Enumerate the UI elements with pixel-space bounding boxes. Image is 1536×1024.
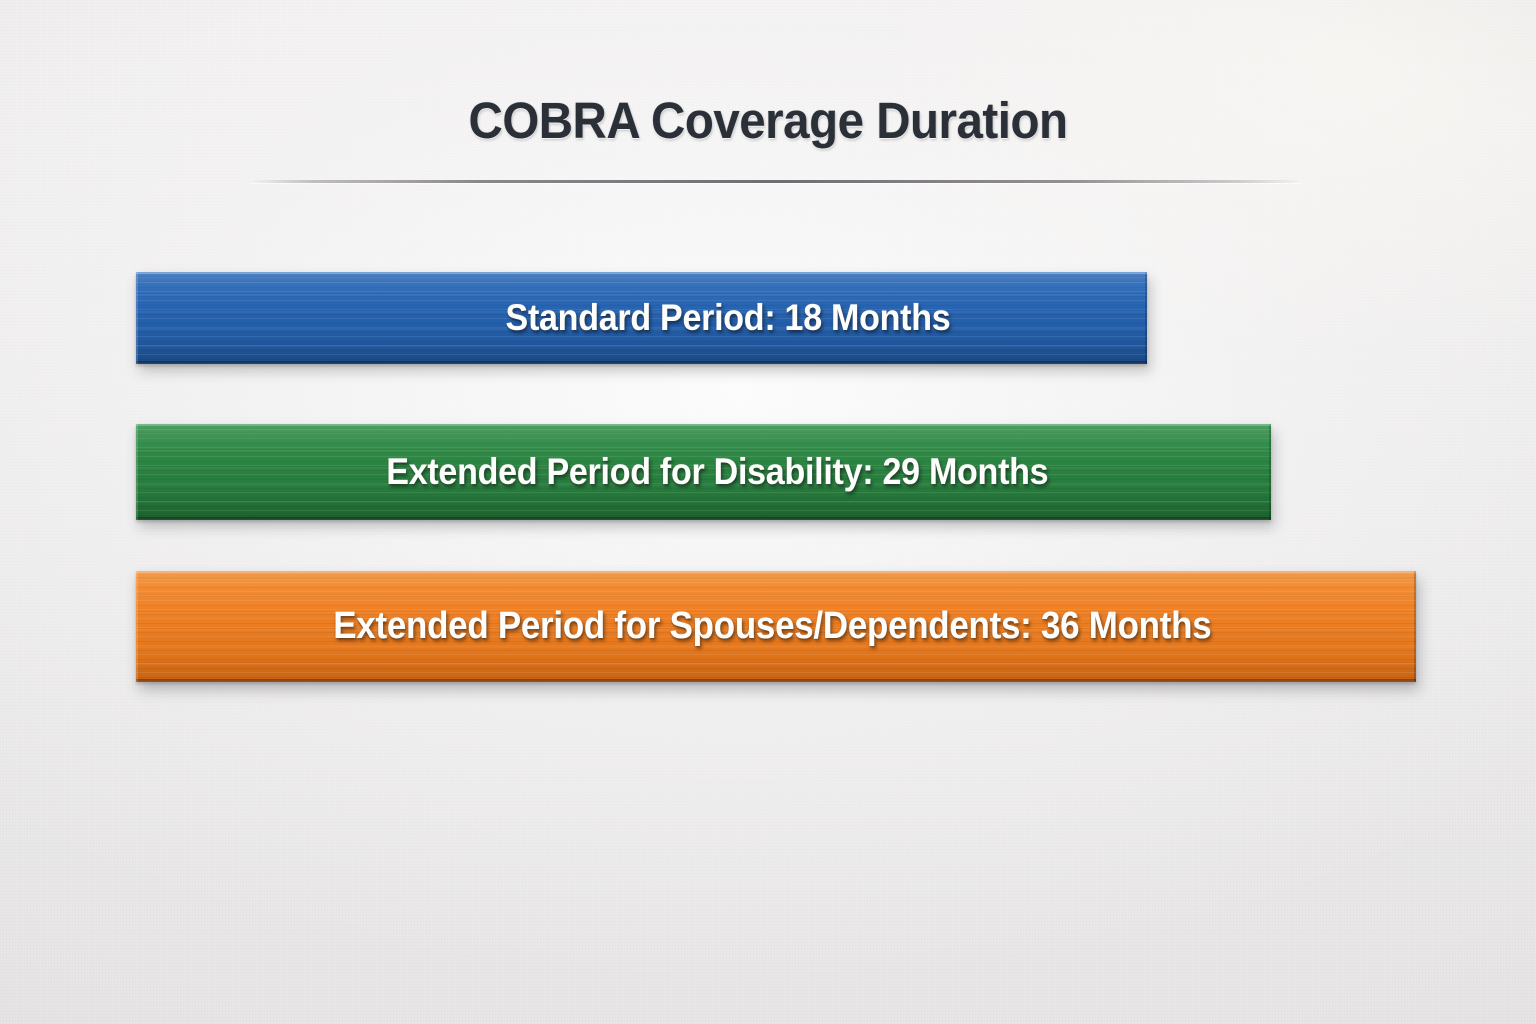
bar-chart: Standard Period: 18 Months Extended Peri… — [0, 0, 1536, 1024]
bar-extended-disability[interactable]: Extended Period for Disability: 29 Month… — [136, 424, 1271, 520]
bar-extended-spouses-dependents[interactable]: Extended Period for Spouses/Dependents: … — [136, 571, 1416, 682]
bar-standard-period-label: Standard Period: 18 Months — [176, 297, 1106, 339]
bar-standard-period[interactable]: Standard Period: 18 Months — [136, 272, 1147, 364]
bar-extended-disability-label: Extended Period for Disability: 29 Month… — [181, 451, 1225, 493]
bar-extended-spouses-dependents-label: Extended Period for Spouses/Dependents: … — [187, 605, 1365, 648]
